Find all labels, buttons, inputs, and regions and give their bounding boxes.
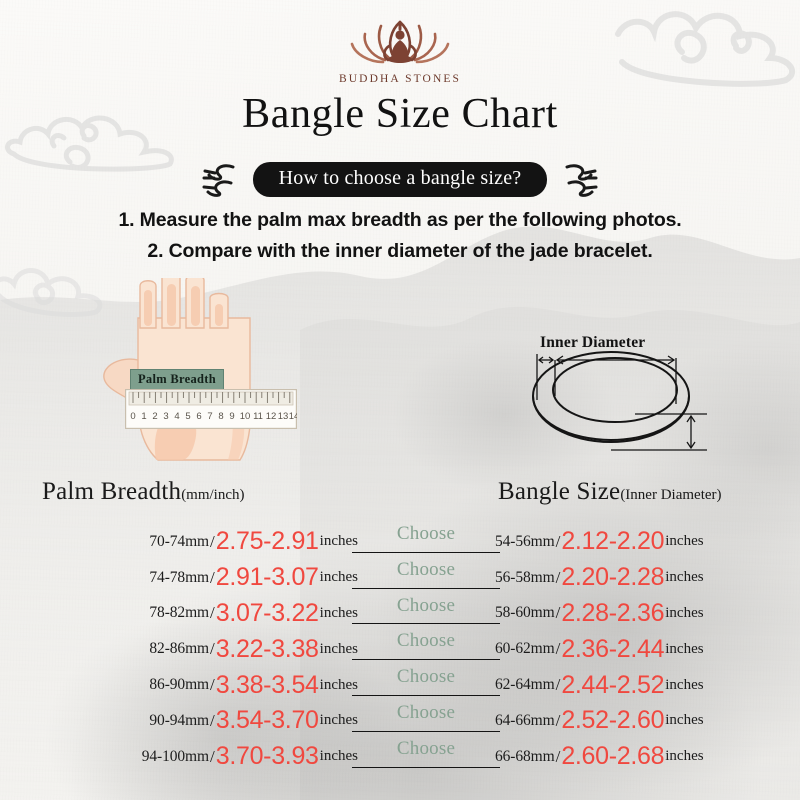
- brand-logo-block: BUDDHA STONES: [0, 10, 800, 85]
- svg-text:2: 2: [152, 411, 157, 422]
- svg-text:4: 4: [174, 411, 179, 422]
- slash-separator: /: [209, 675, 216, 695]
- slash-separator: /: [555, 532, 562, 552]
- connector-line: [352, 695, 500, 696]
- table-row: 64-66mm / 2.52-2.60 inches: [495, 703, 795, 739]
- connector-line: [352, 552, 500, 553]
- section-heading-palm-breadth: Palm Breadth(mm/inch): [42, 478, 245, 506]
- choose-label: Choose: [352, 559, 500, 581]
- slash-separator: /: [209, 568, 216, 588]
- bangle-inch-value: 2.44-2.52: [561, 671, 664, 700]
- table-row: 56-58mm / 2.20-2.28 inches: [495, 560, 795, 596]
- svg-text:0: 0: [130, 411, 135, 422]
- connector-line: [352, 588, 500, 589]
- connector-line: [352, 623, 500, 624]
- table-row: 78-82mm / 3.07-3.22 inches: [28, 596, 358, 632]
- lotus-meditation-icon: [347, 10, 453, 72]
- slash-separator: /: [209, 603, 216, 623]
- choose-label: Choose: [352, 738, 500, 760]
- bangle-mm-value: 66-68mm: [495, 748, 555, 766]
- section-unit-note: (mm/inch): [181, 487, 244, 503]
- bangle-size-table: 54-56mm / 2.12-2.20 inches 56-58mm / 2.2…: [495, 524, 795, 775]
- choose-label: Choose: [352, 630, 500, 652]
- svg-text:6: 6: [196, 411, 201, 422]
- palm-mm-value: 90-94mm: [149, 712, 209, 730]
- palm-inch-value: 3.22-3.38: [216, 635, 319, 664]
- bangle-mm-value: 56-58mm: [495, 569, 555, 587]
- section-unit-note: (Inner Diameter): [620, 487, 721, 503]
- svg-text:1: 1: [141, 411, 146, 422]
- bangle-mm-value: 58-60mm: [495, 604, 555, 622]
- palm-inch-value: 3.70-3.93: [216, 742, 319, 771]
- palm-mm-value: 70-74mm: [149, 533, 209, 551]
- flourish-ornament-icon: [561, 159, 599, 199]
- choose-connector-column: Choose Choose Choose Choose Choose Choos…: [352, 524, 500, 775]
- unit-label: inches: [665, 641, 703, 658]
- bangle-size-chart-page: BUDDHA STONES Bangle Size Chart How to c…: [0, 0, 800, 800]
- svg-text:14: 14: [289, 411, 297, 422]
- bangle-mm-value: 64-66mm: [495, 712, 555, 730]
- brand-wordmark: BUDDHA STONES: [0, 73, 800, 85]
- unit-label: inches: [665, 605, 703, 622]
- palm-mm-value: 82-86mm: [149, 640, 209, 658]
- choose-connector[interactable]: Choose: [352, 703, 500, 739]
- bangle-mm-value: 60-62mm: [495, 640, 555, 658]
- table-row: 54-56mm / 2.12-2.20 inches: [495, 524, 795, 560]
- slash-separator: /: [555, 639, 562, 659]
- palm-inch-value: 3.38-3.54: [216, 671, 319, 700]
- bangle-mm-value: 54-56mm: [495, 533, 555, 551]
- slash-separator: /: [555, 675, 562, 695]
- connector-line: [352, 659, 500, 660]
- palm-inch-value: 3.07-3.22: [216, 599, 319, 628]
- instruction-step: 2. Compare with the inner diameter of th…: [0, 236, 800, 267]
- choose-connector[interactable]: Choose: [352, 596, 500, 632]
- table-row: 82-86mm / 3.22-3.38 inches: [28, 631, 358, 667]
- pill-question-label: How to choose a bangle size?: [253, 162, 548, 197]
- section-title: Bangle Size: [498, 478, 620, 505]
- svg-text:11: 11: [253, 411, 263, 422]
- table-row: 74-78mm / 2.91-3.07 inches: [28, 560, 358, 596]
- section-title: Palm Breadth: [42, 478, 181, 505]
- svg-text:5: 5: [185, 411, 190, 422]
- connector-line: [352, 731, 500, 732]
- svg-text:8: 8: [218, 411, 223, 422]
- unit-label: inches: [665, 677, 703, 694]
- choose-label: Choose: [352, 666, 500, 688]
- bangle-mm-value: 62-64mm: [495, 676, 555, 694]
- instruction-steps: 1. Measure the palm max breadth as per t…: [0, 205, 800, 267]
- slash-separator: /: [209, 747, 216, 767]
- slash-separator: /: [209, 711, 216, 731]
- choose-connector[interactable]: Choose: [352, 560, 500, 596]
- unit-label: inches: [665, 533, 703, 550]
- choose-connector[interactable]: Choose: [352, 631, 500, 667]
- bangle-inch-value: 2.12-2.20: [561, 527, 664, 556]
- unit-label: inches: [665, 712, 703, 729]
- slash-separator: /: [555, 603, 562, 623]
- palm-mm-value: 74-78mm: [149, 569, 209, 587]
- bangle-inch-value: 2.28-2.36: [561, 599, 664, 628]
- palm-mm-value: 78-82mm: [149, 604, 209, 622]
- svg-text:13: 13: [278, 411, 289, 422]
- palm-mm-value: 86-90mm: [149, 676, 209, 694]
- ruler-icon: 012 345 678 91011 121314: [125, 389, 297, 429]
- choose-connector[interactable]: Choose: [352, 667, 500, 703]
- palm-breadth-table: 70-74mm / 2.75-2.91 inches 74-78mm / 2.9…: [28, 524, 358, 775]
- choose-connector[interactable]: Choose: [352, 739, 500, 775]
- table-row: 90-94mm / 3.54-3.70 inches: [28, 703, 358, 739]
- palm-inch-value: 2.75-2.91: [216, 527, 319, 556]
- unit-label: inches: [665, 569, 703, 586]
- page-title: Bangle Size Chart: [0, 90, 800, 138]
- palm-mm-value: 94-100mm: [142, 748, 209, 766]
- palm-inch-value: 3.54-3.70: [216, 706, 319, 735]
- bangle-inch-value: 2.36-2.44: [561, 635, 664, 664]
- svg-text:10: 10: [240, 411, 251, 422]
- svg-text:9: 9: [229, 411, 234, 422]
- choose-label: Choose: [352, 523, 500, 545]
- table-row: 70-74mm / 2.75-2.91 inches: [28, 524, 358, 560]
- svg-text:3: 3: [163, 411, 168, 422]
- palm-breadth-badge: Palm Breadth: [130, 369, 224, 391]
- svg-text:7: 7: [207, 411, 212, 422]
- table-row: 58-60mm / 2.28-2.36 inches: [495, 596, 795, 632]
- flourish-ornament-icon: [201, 159, 239, 199]
- slash-separator: /: [555, 568, 562, 588]
- svg-text:12: 12: [266, 411, 277, 422]
- bangle-ring-icon: [515, 330, 745, 470]
- bangle-inch-value: 2.20-2.28: [561, 563, 664, 592]
- choose-label: Choose: [352, 595, 500, 617]
- table-row: 60-62mm / 2.36-2.44 inches: [495, 631, 795, 667]
- slash-separator: /: [555, 747, 562, 767]
- unit-label: inches: [665, 748, 703, 765]
- bangle-inch-value: 2.52-2.60: [561, 706, 664, 735]
- instruction-step: 1. Measure the palm max breadth as per t…: [0, 205, 800, 236]
- connector-line: [352, 767, 500, 768]
- slash-separator: /: [209, 532, 216, 552]
- table-row: 66-68mm / 2.60-2.68 inches: [495, 739, 795, 775]
- bangle-inch-value: 2.60-2.68: [561, 742, 664, 771]
- palm-inch-value: 2.91-3.07: [216, 563, 319, 592]
- slash-separator: /: [555, 711, 562, 731]
- choose-connector[interactable]: Choose: [352, 524, 500, 560]
- choose-label: Choose: [352, 702, 500, 724]
- table-row: 62-64mm / 2.44-2.52 inches: [495, 667, 795, 703]
- slash-separator: /: [209, 639, 216, 659]
- table-row: 94-100mm / 3.70-3.93 inches: [28, 739, 358, 775]
- how-to-choose-banner: How to choose a bangle size?: [0, 159, 800, 199]
- section-heading-bangle-size: Bangle Size(Inner Diameter): [498, 478, 722, 506]
- table-row: 86-90mm / 3.38-3.54 inches: [28, 667, 358, 703]
